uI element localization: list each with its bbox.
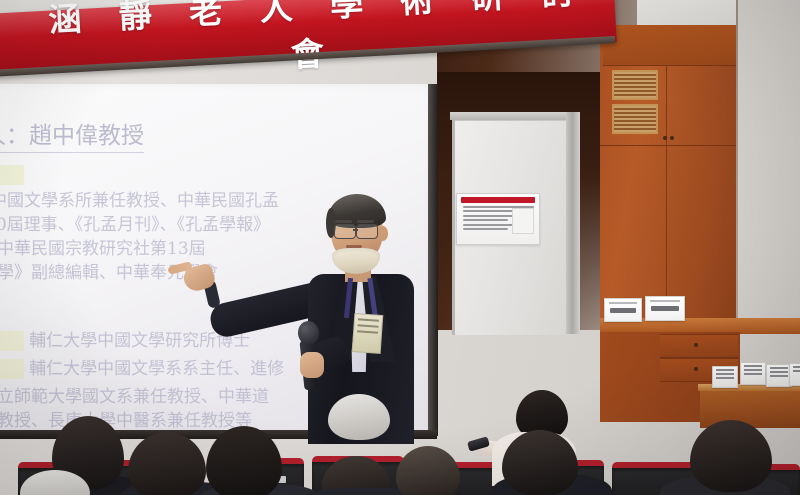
sign-side-note bbox=[512, 208, 534, 234]
drawer-knob[interactable] bbox=[694, 343, 698, 347]
eyeglasses-bridge bbox=[353, 229, 358, 231]
seminar-photograph: 講人：趙中偉教授 職： 大學中國文學系所兼任教授、中華民國孔孟 第40屆理事、《… bbox=[0, 0, 800, 495]
attendee-head bbox=[690, 420, 772, 492]
drawer[interactable] bbox=[660, 334, 738, 358]
attendee-head bbox=[206, 426, 282, 495]
cabinet-knob[interactable] bbox=[670, 136, 674, 140]
door-notice-sign bbox=[456, 193, 540, 245]
desk-name-card bbox=[645, 296, 685, 321]
name-card-subtitle bbox=[650, 300, 680, 302]
slide-title: 講人：趙中偉教授 bbox=[0, 116, 144, 153]
name-card-subtitle bbox=[609, 302, 637, 304]
door-frame-top bbox=[450, 112, 580, 120]
tent-card bbox=[712, 366, 738, 388]
cabinet-vent-upper bbox=[612, 70, 658, 100]
eyeglasses-lens-left bbox=[334, 224, 356, 239]
cabinet-door-seam bbox=[666, 65, 667, 325]
slide-text-line: 輔仁大學中國文學系系主任、進修 bbox=[29, 359, 284, 379]
name-card-name bbox=[610, 308, 636, 313]
cabinet-horizontal-seam bbox=[600, 145, 740, 146]
eyeglasses-lens-right bbox=[356, 224, 378, 239]
drawer-knob[interactable] bbox=[694, 367, 698, 371]
slide-section-tag: 職： bbox=[0, 165, 24, 185]
tent-card bbox=[789, 363, 800, 386]
speaker-eyebrow-right bbox=[357, 220, 374, 223]
slide-section-tag: 歷： bbox=[0, 331, 24, 351]
door-frame-right bbox=[566, 112, 580, 334]
cabinet-knob[interactable] bbox=[663, 136, 667, 140]
audience-row bbox=[0, 398, 800, 495]
tent-card bbox=[740, 362, 766, 385]
speaker-eyebrow-left bbox=[335, 220, 352, 223]
right-wall bbox=[738, 0, 800, 420]
desk-name-card bbox=[604, 298, 642, 322]
slide-section-tag: 歷： bbox=[0, 359, 24, 379]
name-card-name bbox=[651, 306, 679, 311]
face-mask-lowered bbox=[332, 248, 380, 274]
sign-line bbox=[463, 219, 508, 221]
attendee-head bbox=[128, 432, 206, 495]
cabinet-vent-lower bbox=[612, 104, 658, 134]
attendee-head bbox=[396, 446, 460, 495]
sign-header-bar bbox=[461, 197, 535, 203]
speaker-mic-hand bbox=[300, 352, 324, 378]
name-badge bbox=[352, 313, 384, 354]
cabinet-top-panel bbox=[603, 25, 739, 66]
attendee-head-grey-hair bbox=[328, 394, 390, 440]
sign-line bbox=[463, 228, 508, 230]
speaker-ear bbox=[378, 226, 388, 241]
slide-section-tag-row: 職： bbox=[0, 164, 418, 185]
